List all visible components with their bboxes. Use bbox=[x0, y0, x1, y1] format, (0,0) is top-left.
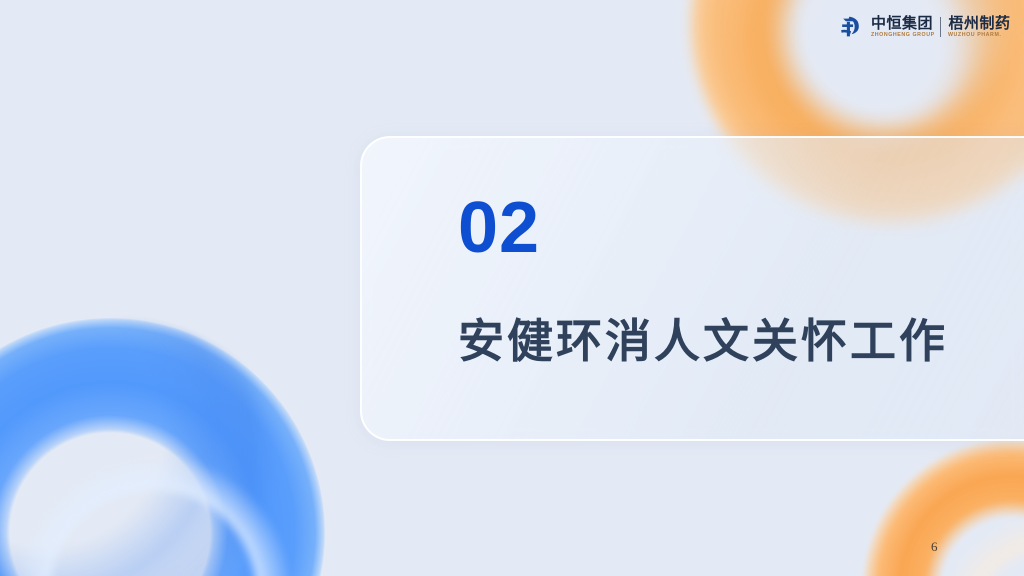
section-title: 安健环消人文关怀工作 bbox=[458, 318, 948, 364]
card-content: 02 安健环消人文关怀工作 bbox=[458, 192, 948, 364]
section-title-card: 02 安健环消人文关怀工作 bbox=[360, 136, 1024, 441]
logo-secondary-cn: 梧州制药 bbox=[948, 16, 1010, 31]
page-number: 6 bbox=[931, 539, 938, 555]
logo-text-group: 中恒集团 ZHONGHENG GROUP 梧州制药 WUZHOU PHARM. bbox=[871, 16, 1010, 39]
orange-ring-highlight-icon bbox=[862, 438, 1024, 576]
slide-canvas: 02 安健环消人文关怀工作 中恒集团 ZHONGHENG GROUP 梧州制药 … bbox=[0, 0, 1024, 576]
zhongheng-emblem-icon bbox=[838, 14, 864, 40]
logo-divider bbox=[940, 17, 941, 37]
blue-ring-highlight-icon bbox=[0, 318, 325, 576]
company-logo: 中恒集团 ZHONGHENG GROUP 梧州制药 WUZHOU PHARM. bbox=[838, 10, 1010, 44]
logo-primary-cn: 中恒集团 bbox=[871, 16, 933, 31]
section-number: 02 bbox=[458, 192, 948, 264]
logo-secondary-en: WUZHOU PHARM. bbox=[948, 33, 1011, 38]
logo-secondary-block: 梧州制药 WUZHOU PHARM. bbox=[948, 16, 1010, 39]
logo-primary-en: ZHONGHENG GROUP bbox=[871, 33, 935, 38]
logo-primary-block: 中恒集团 ZHONGHENG GROUP bbox=[871, 16, 933, 39]
